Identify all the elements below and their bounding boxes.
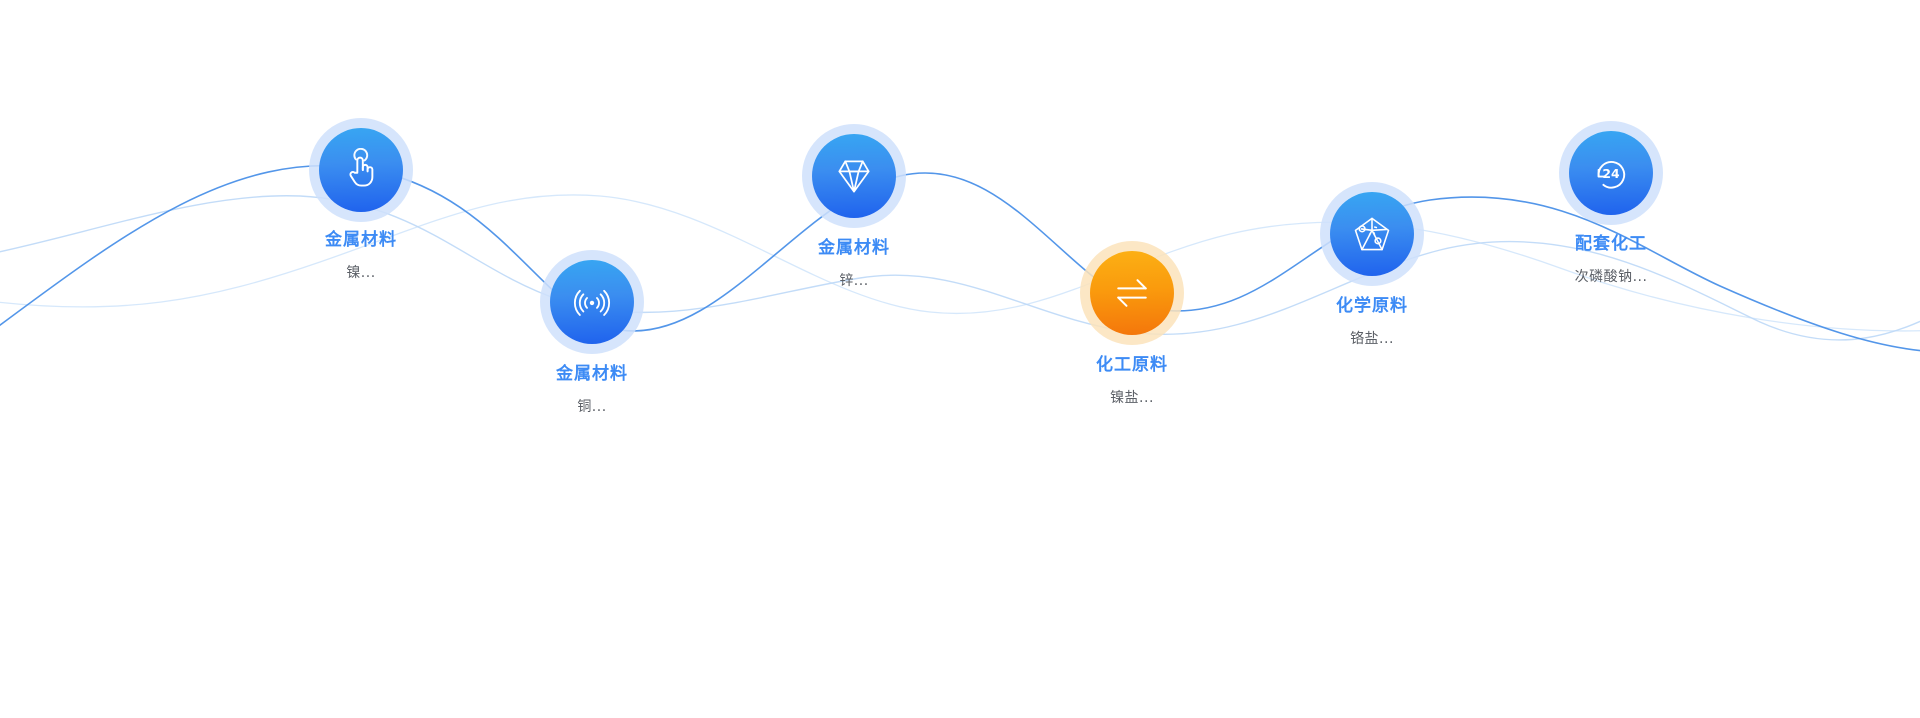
node-category-label: 化工原料	[1096, 355, 1168, 375]
radar-signal-icon	[570, 280, 614, 324]
node-disc[interactable]	[319, 128, 403, 212]
node-category-label: 金属材料	[556, 364, 628, 384]
molecule-pentagon-icon	[1350, 212, 1394, 256]
node-sub-label: 锌...	[818, 272, 890, 290]
node-sub-label: 镍盐...	[1096, 389, 1168, 407]
hand-touch-icon	[339, 148, 383, 192]
node-disc[interactable]	[550, 260, 634, 344]
node-category-label: 化学原料	[1336, 296, 1408, 316]
node-labels: 金属材料 铜...	[556, 364, 628, 416]
node-disc[interactable]	[812, 134, 896, 218]
background-curves	[0, 0, 1920, 718]
node-disc[interactable]	[1090, 251, 1174, 335]
node-labels: 金属材料 镍...	[325, 230, 397, 282]
node-disc[interactable]	[1330, 192, 1414, 276]
node-labels: 化学原料 铬盐...	[1336, 296, 1408, 348]
node-labels: 金属材料 锌...	[818, 238, 890, 290]
node-sub-label: 铬盐...	[1336, 330, 1408, 348]
reversible-arrows-icon	[1110, 271, 1154, 315]
node-labels: 配套化工 次磷酸钠...	[1575, 234, 1648, 286]
svg-text:24: 24	[1602, 167, 1620, 181]
node-sub-label: 镍...	[325, 264, 397, 282]
twenty-four-hour-icon: 24	[1589, 151, 1633, 195]
diamond-icon	[832, 154, 876, 198]
node-disc[interactable]: 24	[1569, 131, 1653, 215]
node-sub-label: 次磷酸钠...	[1575, 268, 1648, 286]
supply-chain-diagram: 金属材料 镍... 金属材料 铜...	[0, 0, 1920, 718]
node-category-label: 配套化工	[1575, 234, 1648, 254]
node-sub-label: 铜...	[556, 398, 628, 416]
node-labels: 化工原料 镍盐...	[1096, 355, 1168, 407]
node-category-label: 金属材料	[325, 230, 397, 250]
node-category-label: 金属材料	[818, 238, 890, 258]
